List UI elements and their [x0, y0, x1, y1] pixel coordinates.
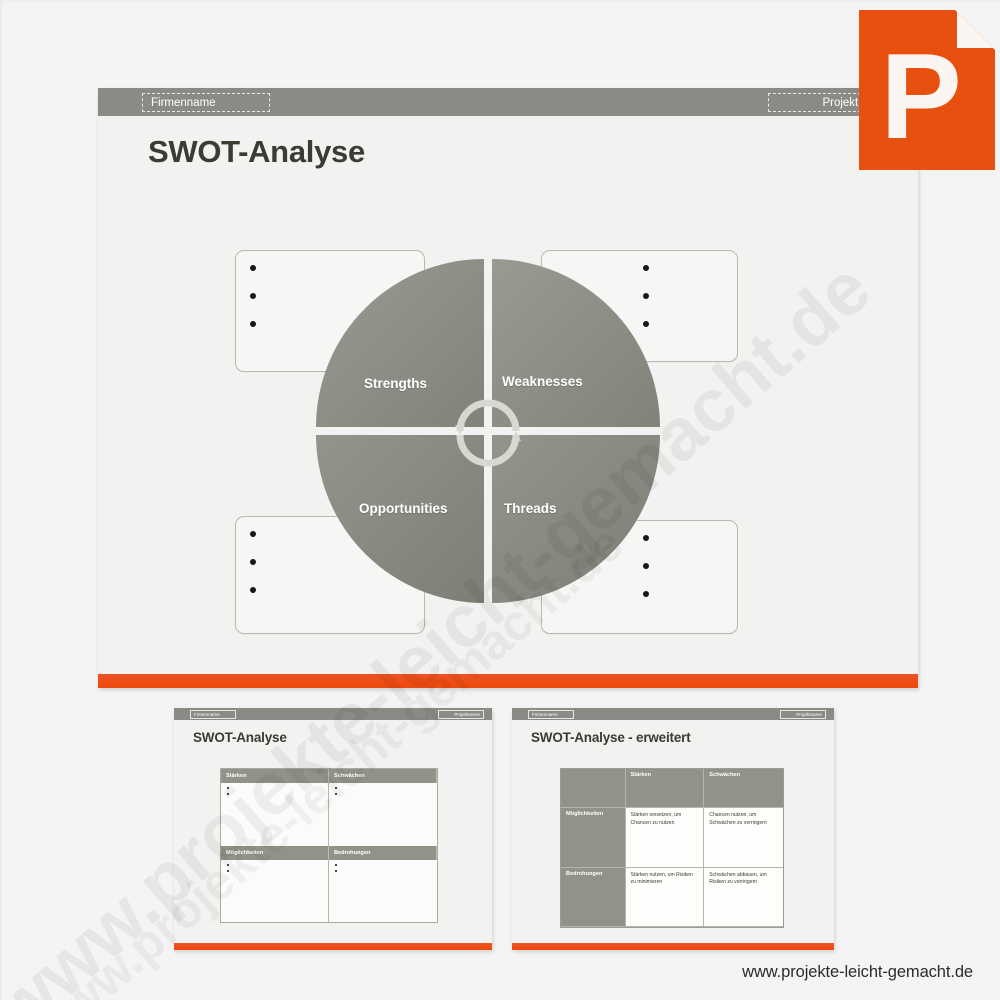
matrix-colheader-schwaechen-label: Schwächen — [709, 772, 740, 778]
matrix-cell-wt[interactable]: Schwächen abbauen, um Risiken zu verring… — [704, 868, 783, 927]
company-name-label: Firmenname — [194, 712, 220, 717]
thumbnail-slide-swot-erweitert[interactable]: Firmenname Projektname SWOT-Analyse - er… — [512, 708, 834, 950]
matrix-cell-schwaechen[interactable] — [329, 783, 437, 846]
quadrant-label-opportunities: Opportunities — [359, 501, 448, 516]
project-name-placeholder[interactable]: Projektname — [780, 710, 826, 719]
bullet-list — [227, 787, 328, 795]
main-slide-canvas: Firmenname Projektname SWOT-Analyse — [98, 88, 918, 688]
matrix-header-staerken: Stärken — [221, 769, 329, 783]
matrix-header-moeglichkeiten: Möglichkeiten — [221, 846, 329, 860]
matrix-cell-moeglichkeiten[interactable] — [221, 860, 329, 923]
matrix-colheader-staerken-label: Stärken — [631, 772, 652, 778]
bullet-point — [227, 870, 229, 872]
thumb-header-bar: Firmenname Projektname — [174, 708, 492, 720]
thumb-title: SWOT-Analyse - erweitert — [531, 730, 691, 745]
thumb-title: SWOT-Analyse — [193, 730, 287, 745]
powerpoint-file-icon: P — [859, 10, 995, 170]
page-root: Firmenname Projektname SWOT-Analyse — [0, 0, 1000, 1000]
company-name-placeholder[interactable]: Firmenname — [190, 710, 236, 719]
strengths-bullet-list — [250, 265, 256, 327]
bullet-list — [335, 787, 437, 795]
bullet-list — [227, 864, 328, 872]
thumb-accent-bar — [512, 943, 834, 950]
thumb-header-bar: Firmenname Projektname — [512, 708, 834, 720]
matrix-cell-so[interactable]: Stärken einsetzen, um Chancen zu nutzen — [626, 808, 705, 867]
bullet-point — [335, 864, 337, 866]
main-slide[interactable]: Firmenname Projektname SWOT-Analyse — [98, 88, 918, 688]
matrix-rowheader-moeglichkeiten-label: Möglichkeiten — [566, 811, 603, 817]
slide-header-bar: Firmenname Projektname — [98, 88, 918, 116]
thumb-accent-bar — [174, 943, 492, 950]
swot-circle-diagram[interactable]: Strengths Weaknesses Opportunities Threa… — [312, 255, 664, 607]
matrix-rowheader-bedrohungen: Bedrohungen — [561, 868, 626, 927]
bullet-point — [227, 793, 229, 795]
matrix-header-bedrohungen: Bedrohungen — [329, 846, 437, 860]
matrix-cell-bedrohungen[interactable] — [329, 860, 437, 923]
powerpoint-letter: P — [880, 28, 961, 164]
bullet-point — [250, 265, 256, 271]
company-name-label: Firmenname — [532, 712, 558, 717]
page-title: SWOT-Analyse — [148, 134, 365, 170]
project-name-label: Projektname — [454, 712, 480, 717]
bullet-list — [335, 864, 437, 872]
quadrant-label-threads: Threads — [504, 501, 557, 516]
tows-matrix: Stärken Schwächen Möglichkeiten — [560, 768, 784, 928]
bullet-point — [250, 321, 256, 327]
matrix-colheader-staerken: Stärken — [626, 769, 705, 808]
bullet-point — [250, 587, 256, 593]
matrix-cell-st[interactable]: Stärken nutzen, um Risiken zu minimieren — [626, 868, 705, 927]
bullet-point — [250, 531, 256, 537]
matrix-cell-staerken[interactable] — [221, 783, 329, 846]
opportunities-bullet-list — [250, 531, 256, 593]
thumbnail-slide-swot-matrix[interactable]: Firmenname Projektname SWOT-Analyse Stär… — [174, 708, 492, 950]
project-name-label: Projektname — [796, 712, 822, 717]
company-name-placeholder[interactable]: Firmenname — [142, 93, 270, 112]
quadrant-label-strengths: Strengths — [364, 376, 427, 391]
company-name-placeholder[interactable]: Firmenname — [528, 710, 574, 719]
slide-accent-bar — [98, 674, 918, 688]
bullet-point — [335, 787, 337, 789]
matrix-colheader-schwaechen: Schwächen — [704, 769, 783, 808]
matrix-rowheader-bedrohungen-label: Bedrohungen — [566, 871, 602, 877]
matrix-cell-wo[interactable]: Chancen nutzen, um Schwächen zu verringe… — [704, 808, 783, 867]
matrix-header-schwaechen: Schwächen — [329, 769, 437, 783]
bullet-point — [335, 870, 337, 872]
quadrant-label-weaknesses: Weaknesses — [502, 374, 583, 389]
footer-url: www.projekte-leicht-gemacht.de — [742, 963, 973, 982]
bullet-point — [250, 293, 256, 299]
matrix-corner-cell — [561, 769, 626, 808]
bullet-point — [227, 787, 229, 789]
company-name-label: Firmenname — [151, 97, 216, 109]
swot-2x2-matrix: Stärken Schwächen Möglichkeiten Bedrohun… — [220, 768, 438, 923]
bullet-point — [227, 864, 229, 866]
project-name-placeholder[interactable]: Projektname — [438, 710, 484, 719]
bullet-point — [250, 559, 256, 565]
matrix-rowheader-moeglichkeiten: Möglichkeiten — [561, 808, 626, 867]
bullet-point — [335, 793, 337, 795]
